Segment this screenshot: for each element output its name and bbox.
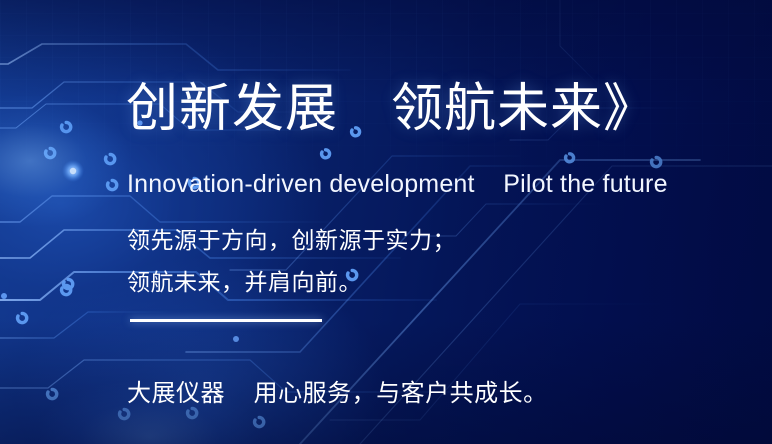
banner-tagline: 大展仪器 用心服务，与客户共成长。 <box>127 377 548 411</box>
banner-title: 创新发展 领航未来》 <box>126 78 656 140</box>
white-divider-rule <box>130 319 322 322</box>
slogan-line-2: 领航未来，并肩向前。 <box>127 261 456 303</box>
banner-content: 创新发展 领航未来》 Innovation-driven development… <box>0 0 772 444</box>
slogan-line-1: 领先源于方向，创新源于实力； <box>127 219 456 261</box>
promo-banner: 创新发展 领航未来》 Innovation-driven development… <box>0 0 772 444</box>
banner-subtitle-english: Innovation-driven development Pilot the … <box>127 168 668 200</box>
banner-slogan-block: 领先源于方向，创新源于实力； 领航未来，并肩向前。 <box>127 219 456 303</box>
